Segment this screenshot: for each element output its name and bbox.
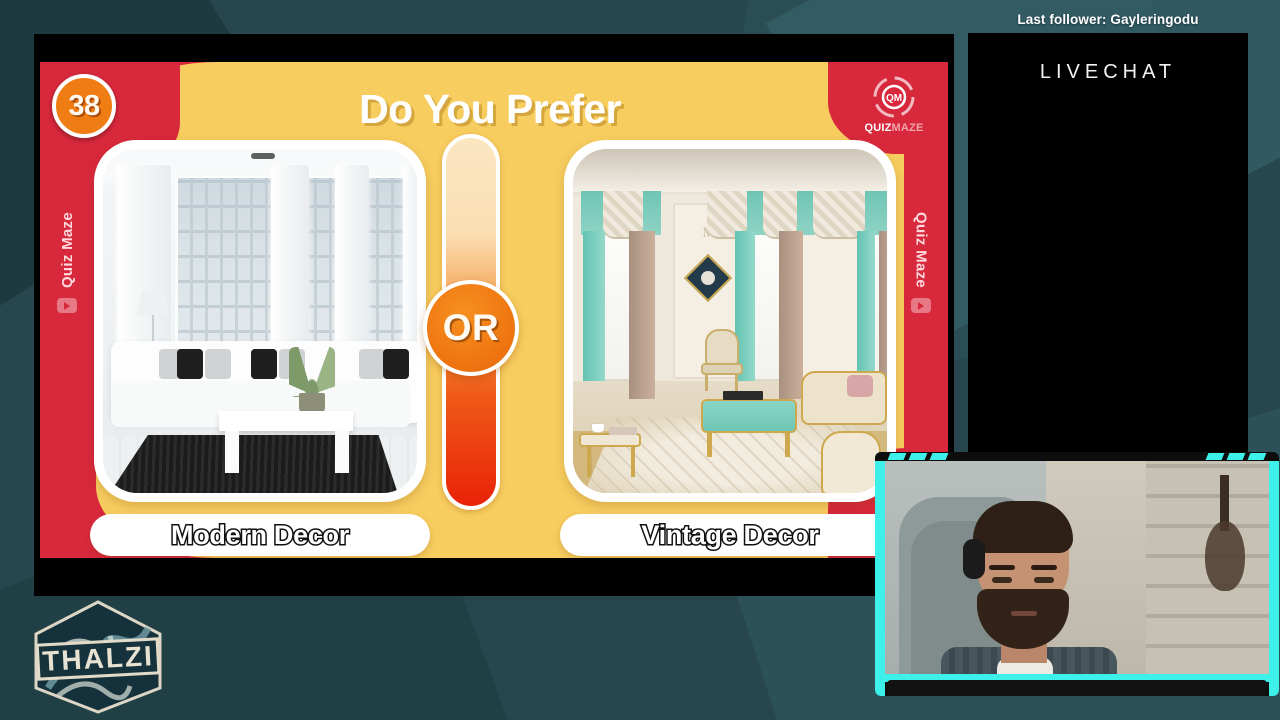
side-brand-right: Quiz Maze <box>908 212 934 412</box>
question-counter-value: 38 <box>68 90 99 123</box>
option-card-left[interactable] <box>94 140 426 502</box>
webcam-frame-right <box>1269 452 1279 696</box>
option-card-right[interactable]: M M <box>564 140 896 502</box>
modern-room-scene <box>103 149 417 493</box>
slide-title: Do You Prefer <box>280 86 700 133</box>
livechat-panel[interactable]: LIVECHAT <box>968 33 1248 453</box>
webcam-video <box>885 461 1269 674</box>
quizmaze-logo: QM QUIZMAZE <box>854 74 934 134</box>
or-divider-badge: OR <box>423 280 519 376</box>
quizmaze-circle-icon: QM <box>871 74 917 120</box>
side-brand-left: Quiz Maze <box>54 212 80 412</box>
option-label-left-text: Modern Decor <box>171 520 349 551</box>
last-follower-label: Last follower: Gayleringodu <box>968 8 1248 30</box>
brand-name-a: QUIZ <box>864 122 891 134</box>
webcam-accent-dashes-right <box>1207 453 1265 460</box>
streamer-logo-text: THALZI <box>42 640 155 677</box>
vintage-living-room-photo: M M <box>573 149 887 493</box>
livechat-title: LIVECHAT <box>968 61 1248 84</box>
webcam-frame-left <box>875 452 885 696</box>
option-label-right-text: Vintage Decor <box>641 520 818 551</box>
question-counter-badge: 38 <box>52 74 116 138</box>
option-label-right[interactable]: Vintage Decor <box>560 514 900 556</box>
youtube-play-icon <box>57 298 77 313</box>
streamer-logo: THALZI <box>18 596 178 716</box>
quizmaze-logo-text: QUIZMAZE <box>854 122 934 134</box>
modern-living-room-photo <box>103 149 417 493</box>
webcam-bottom-bar <box>887 680 1267 696</box>
webcam-accent-dashes-left <box>889 453 947 460</box>
or-divider-label: OR <box>443 307 500 349</box>
vintage-room-scene: M M <box>573 149 887 493</box>
side-brand-left-text: Quiz Maze <box>59 212 76 288</box>
side-brand-right-text: Quiz Maze <box>913 212 930 288</box>
svg-text:QM: QM <box>886 93 902 104</box>
video-player-frame[interactable]: 38 Do You Prefer QM QUIZMAZE Quiz Maze Q… <box>34 34 954 596</box>
quiz-slide: 38 Do You Prefer QM QUIZMAZE Quiz Maze Q… <box>40 62 948 558</box>
webcam-overlay[interactable] <box>875 452 1279 696</box>
brand-name-b: MAZE <box>892 122 924 134</box>
option-label-left[interactable]: Modern Decor <box>90 514 430 556</box>
youtube-play-icon <box>911 298 931 313</box>
